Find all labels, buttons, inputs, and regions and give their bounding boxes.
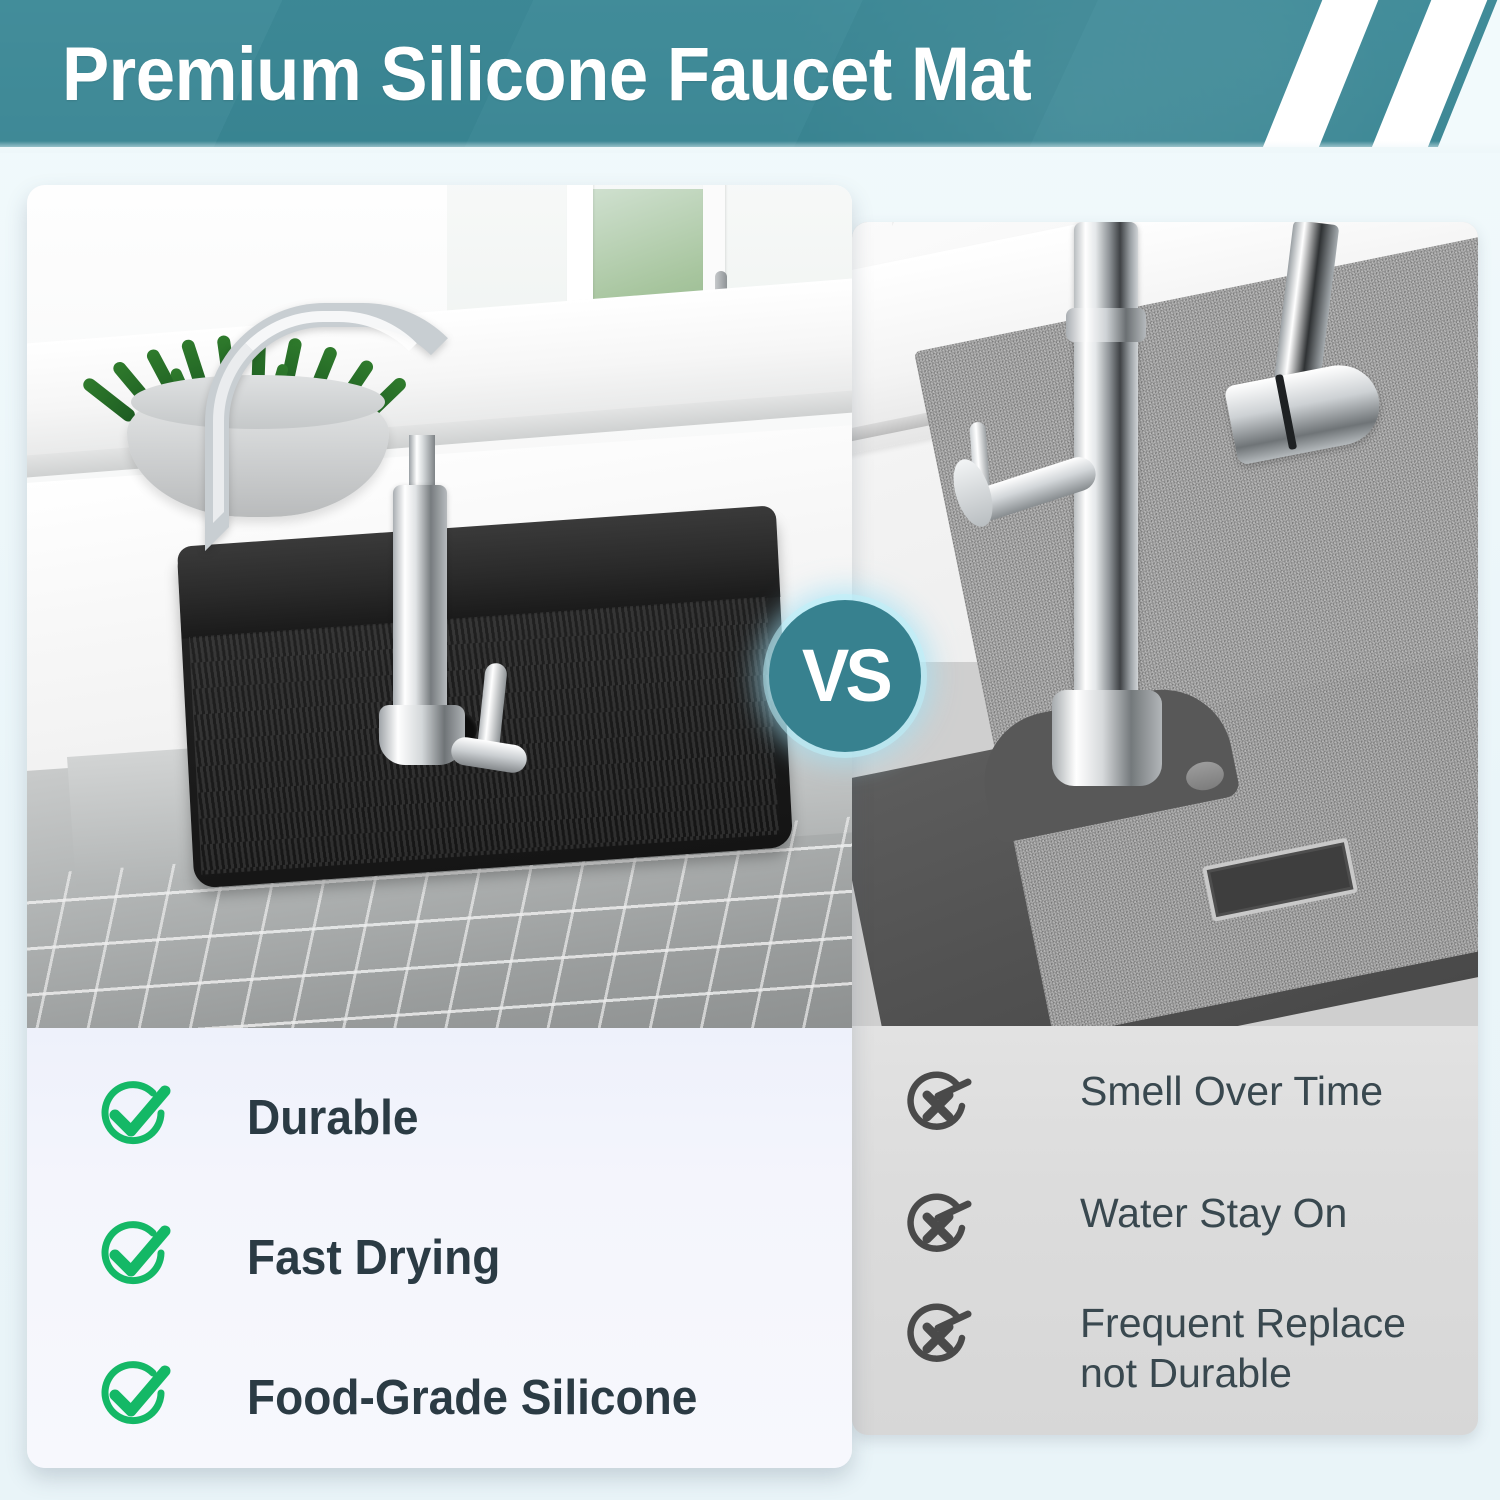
x-circle-icon (900, 1298, 976, 1379)
check-circle-icon (91, 1213, 175, 1302)
check-circle-icon (91, 1353, 175, 1442)
comparison-card-left: Durable Fast Drying (27, 185, 852, 1468)
list-item: Frequent Replace not Durable (900, 1298, 1406, 1398)
feature-label: Durable (247, 1090, 418, 1146)
left-photo-faucet-column (393, 485, 447, 735)
drawbacks-list: Smell Over Time Water Stay On (852, 1026, 1478, 1435)
x-circle-icon (900, 1066, 976, 1147)
versus-badge-label: VS (801, 639, 888, 713)
infographic-page: Premium Silicone Faucet Mat (0, 0, 1500, 1500)
comparison-card-right: Smell Over Time Water Stay On (852, 222, 1478, 1435)
feature-label: Food-Grade Silicone (247, 1370, 697, 1426)
x-circle-icon (900, 1188, 976, 1269)
right-photo-faucet-collar (1066, 308, 1146, 342)
versus-badge: VS (769, 600, 921, 752)
left-product-photo (27, 185, 852, 1028)
list-item: Durable (91, 1073, 429, 1162)
list-item: Water Stay On (900, 1188, 1347, 1269)
feature-label: Fast Drying (247, 1230, 500, 1286)
list-item: Fast Drying (91, 1213, 517, 1302)
features-list: Durable Fast Drying (27, 1028, 852, 1468)
header-bottom-fade (0, 141, 1500, 153)
page-title: Premium Silicone Faucet Mat (62, 32, 1031, 118)
features-panel: Durable Fast Drying (27, 1028, 852, 1468)
right-product-photo (852, 222, 1478, 1026)
drawback-label: Frequent Replace not Durable (1080, 1298, 1406, 1398)
header-banner: Premium Silicone Faucet Mat (0, 0, 1500, 147)
drawbacks-panel: Smell Over Time Water Stay On (852, 1026, 1478, 1435)
check-circle-icon (91, 1073, 175, 1162)
list-item: Food-Grade Silicone (91, 1353, 726, 1442)
right-photo-faucet-base (1052, 690, 1162, 786)
drawback-label: Water Stay On (1080, 1188, 1347, 1238)
list-item: Smell Over Time (900, 1066, 1383, 1147)
drawback-label: Smell Over Time (1080, 1066, 1383, 1116)
